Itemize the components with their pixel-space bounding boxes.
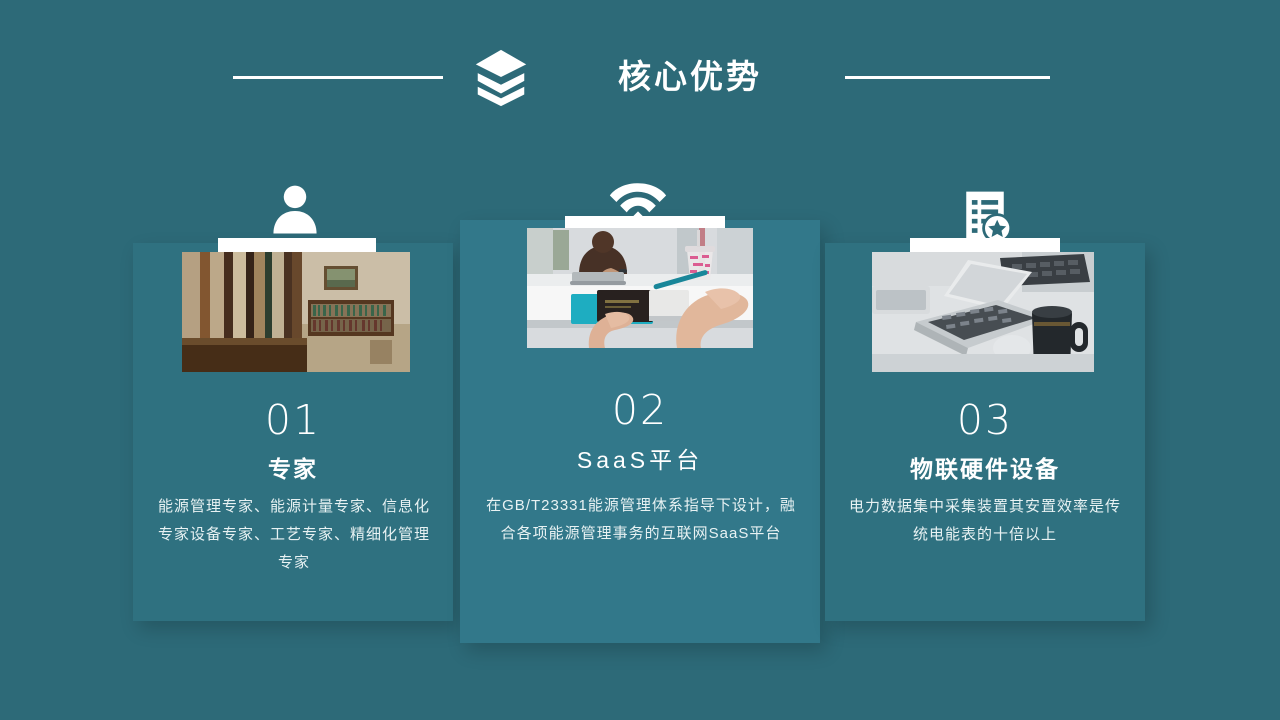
card-02-description: 在GB/T23331能源管理体系指导下设计，融合各项能源管理事务的互联网SaaS… — [485, 492, 797, 548]
card-03-photo — [872, 252, 1094, 372]
header-rule-left — [233, 76, 443, 79]
card-03-description: 电力数据集中采集装置其安置效率是传统电能表的十倍以上 — [848, 493, 1122, 549]
card-03-number: 03 — [825, 396, 1145, 444]
card-02-number: 02 — [460, 386, 820, 434]
layers-stack-icon — [470, 46, 532, 108]
card-01-description: 能源管理专家、能源计量专家、信息化专家设备专家、工艺专家、精细化管理专家 — [153, 493, 435, 577]
certificate-star-icon — [955, 186, 1015, 246]
person-icon — [265, 180, 325, 240]
slide-root: 核心优势 — [0, 0, 1280, 720]
header-rule-right — [845, 76, 1050, 79]
card-03-title: 物联硬件设备 — [825, 450, 1145, 484]
card-02-title: SaaS平台 — [460, 441, 820, 475]
card-01-photo — [182, 252, 410, 372]
card-01-title: 专家 — [133, 450, 453, 484]
card-01-number: 01 — [133, 396, 453, 444]
card-02-photo — [527, 228, 753, 348]
page-title: 核心优势 — [560, 52, 820, 102]
slide-header: 核心优势 — [0, 0, 1280, 150]
